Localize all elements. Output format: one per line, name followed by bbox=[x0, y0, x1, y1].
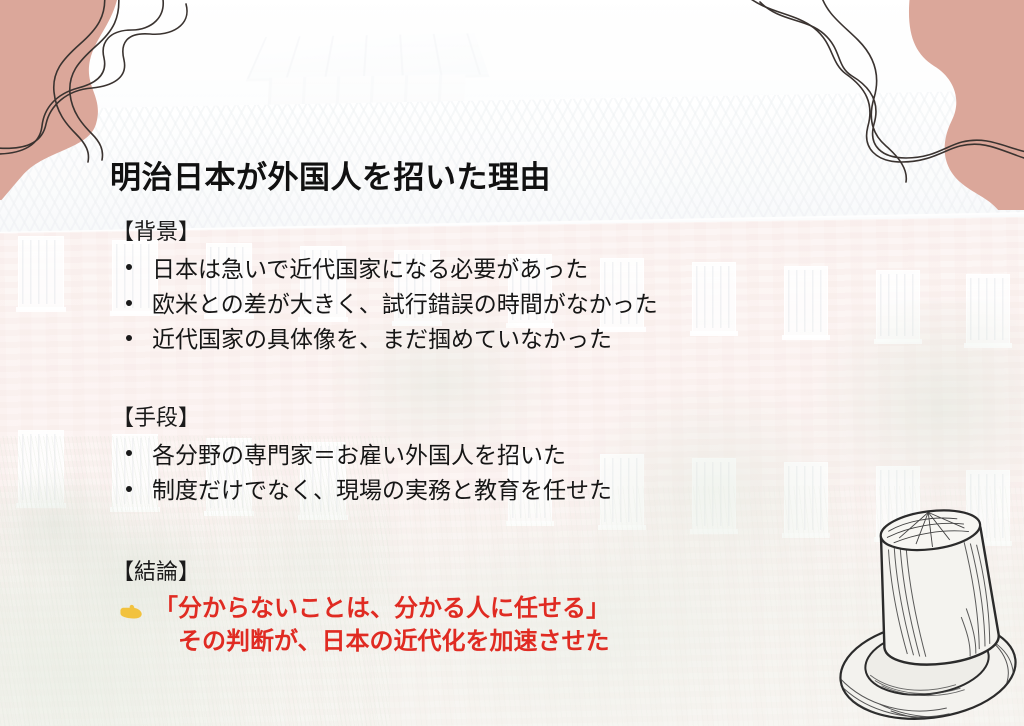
section-label-means: 【手段】 bbox=[112, 404, 612, 432]
slide-canvas: 明治日本が外国人を招いた理由 【背景】 日本は急いで近代国家になる必要があった … bbox=[0, 0, 1024, 726]
conclusion-callout: 「分からないことは、分かる人に任せる」 その判断が、日本の近代化を加速させた bbox=[112, 592, 610, 659]
page-title: 明治日本が外国人を招いた理由 bbox=[110, 152, 551, 197]
list-item: 制度だけでなく、現場の実務と教育を任せた bbox=[112, 473, 612, 508]
list-item-label: 各分野の専門家＝お雇い外国人を招いた bbox=[152, 442, 566, 468]
conclusion-line-2: その判断が、日本の近代化を加速させた bbox=[154, 625, 610, 659]
bullet-dot-icon bbox=[126, 300, 132, 306]
bullet-dot-icon bbox=[126, 486, 132, 492]
section-means: 【手段】 各分野の専門家＝お雇い外国人を招いた 制度だけでなく、現場の実務と教育… bbox=[112, 404, 612, 508]
section-label-background: 【背景】 bbox=[112, 218, 658, 246]
bullet-dot-icon bbox=[126, 335, 132, 341]
bullet-dot-icon bbox=[126, 264, 132, 270]
conclusion-text: 「分からないことは、分かる人に任せる」 その判断が、日本の近代化を加速させた bbox=[154, 592, 610, 659]
list-item: 各分野の専門家＝お雇い外国人を招いた bbox=[112, 438, 612, 473]
pointing-right-hand-icon bbox=[118, 599, 144, 625]
list-item-label: 近代国家の具体像を、まだ掴めていなかった bbox=[152, 326, 612, 352]
section-label-conclusion: 【結論】 bbox=[112, 558, 610, 586]
bullet-list-background: 日本は急いで近代国家になる必要があった 欧米との差が大きく、試行錯誤の時間がなか… bbox=[112, 252, 658, 358]
list-item-label: 日本は急いで近代国家になる必要があった bbox=[152, 256, 588, 282]
conclusion-line-1: 「分からないことは、分かる人に任せる」 bbox=[154, 595, 610, 622]
section-conclusion: 【結論】 「分からないことは、分かる人に任せる」 その判断が、日本の近代化を加速… bbox=[112, 558, 610, 659]
list-item: 日本は急いで近代国家になる必要があった bbox=[112, 252, 658, 287]
list-item: 欧米との差が大きく、試行錯誤の時間がなかった bbox=[112, 287, 658, 322]
top-hat-illustration bbox=[836, 492, 1024, 726]
list-item: 近代国家の具体像を、まだ掴めていなかった bbox=[112, 322, 658, 357]
bullet-dot-icon bbox=[126, 450, 132, 456]
list-item-label: 欧米との差が大きく、試行錯誤の時間がなかった bbox=[152, 291, 658, 317]
bullet-list-means: 各分野の専門家＝お雇い外国人を招いた 制度だけでなく、現場の実務と教育を任せた bbox=[112, 438, 612, 508]
list-item-label: 制度だけでなく、現場の実務と教育を任せた bbox=[152, 477, 612, 503]
section-background: 【背景】 日本は急いで近代国家になる必要があった 欧米との差が大きく、試行錯誤の… bbox=[112, 218, 658, 357]
